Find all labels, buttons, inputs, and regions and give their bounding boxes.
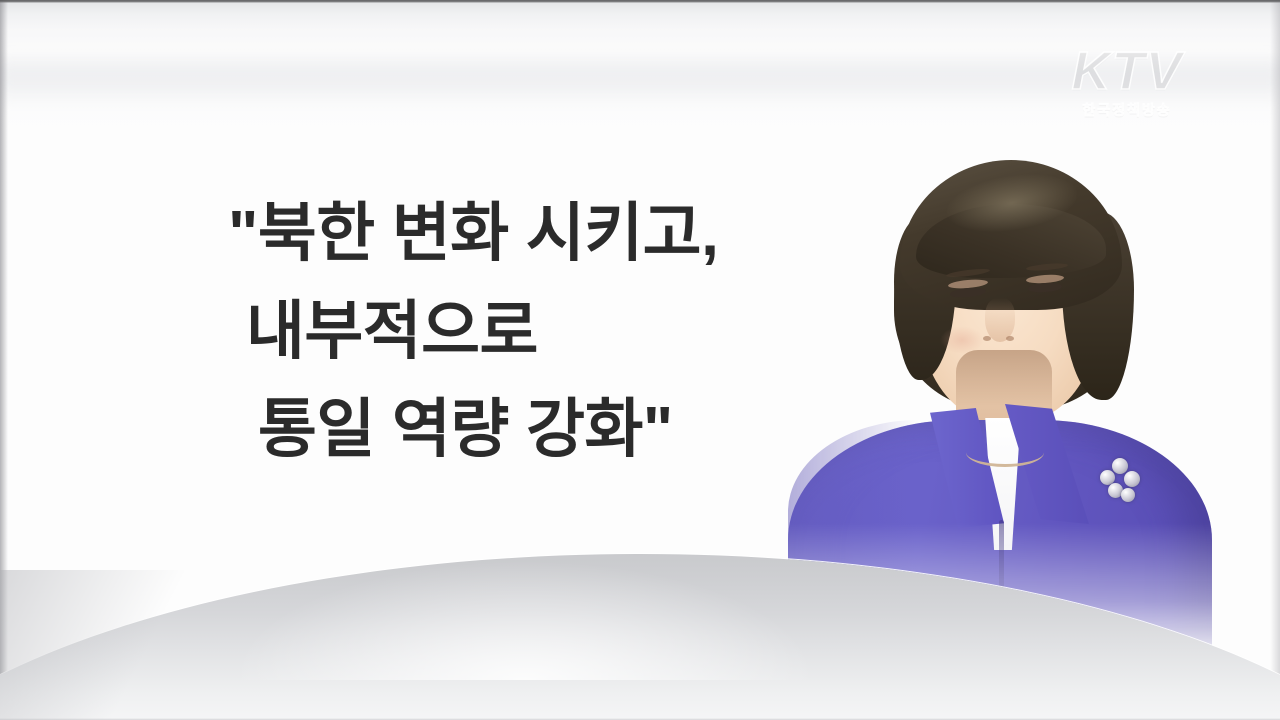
headline-line-3: 통일 역량 강화" [0, 380, 820, 478]
bottom-arc-band [0, 540, 1280, 720]
brooch-icon [1100, 458, 1142, 504]
bottom-arc-sheen [230, 560, 819, 680]
nostril-right [1006, 336, 1014, 341]
top-edge-rule [0, 0, 1280, 3]
neck-shadow [956, 350, 1052, 406]
headline-line-1: "북한 변화 시키고, [0, 184, 820, 282]
headline-line-2: 내부적으로 [0, 282, 820, 380]
headline: "북한 변화 시키고, 내부적으로 통일 역량 강화" [0, 184, 820, 478]
necklace [966, 438, 1044, 467]
channel-logo: KTV 한국정책방송 [1052, 44, 1202, 116]
channel-logo-subtitle: 한국정책방송 [1052, 100, 1202, 120]
broadcast-graphic: "북한 변화 시키고, 내부적으로 통일 역량 강화" KTV 한국정책방송 [0, 0, 1280, 720]
channel-logo-mark: KTV [1052, 44, 1202, 98]
nostril-left [983, 336, 991, 341]
